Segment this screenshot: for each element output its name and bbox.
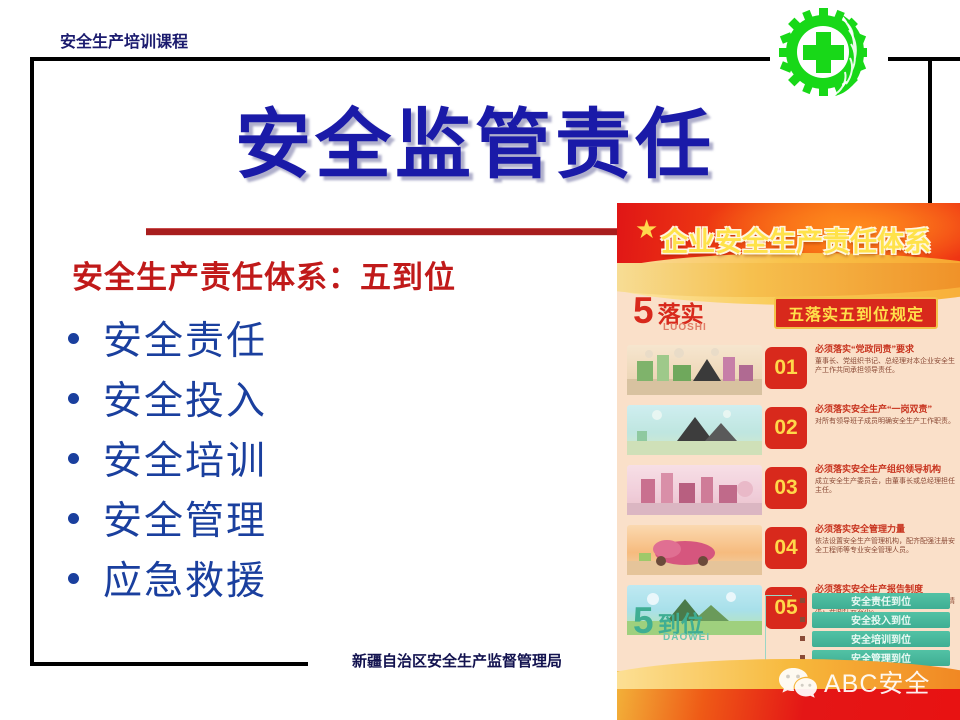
item-description: 董事长、党组织书记、总经理对本企业安全生产工作共同承担领导责任。 — [815, 357, 955, 375]
daowei-chip-label: 安全培训到位 — [851, 631, 911, 646]
footer-organization: 新疆自治区安全生产监督管理局 — [352, 650, 562, 671]
bullet-label: 应急救援 — [103, 550, 267, 606]
item-number-badge: 04 — [765, 527, 807, 569]
bullet-dot-icon — [68, 393, 79, 404]
list-item: 安全培训 — [68, 428, 548, 488]
item-texts: 必须落实安全生产组织领导机构 成立安全生产委员会，由董事长或总经理担任主任。 — [815, 463, 955, 495]
item-description: 成立安全生产委员会，由董事长或总经理担任主任。 — [815, 477, 955, 495]
list-item: 应急救援 — [68, 548, 548, 608]
list-item: 安全培训到位 — [800, 629, 950, 648]
daowei-chip: 安全投入到位 — [812, 612, 950, 628]
poster-item-row: 02 必须落实安全生产“一岗双责” 对所有领导班子成员明确安全生产工作职责。 — [627, 403, 953, 459]
tick-icon — [800, 636, 805, 641]
bullet-label: 安全责任 — [103, 310, 267, 366]
bullet-dot-icon — [68, 333, 79, 344]
item-texts: 必须落实安全管理力量 依法设置安全生产管理机构，配齐配强注册安全工程师等专业安全… — [815, 523, 955, 555]
item-heading: 必须落实安全生产“一岗双责” — [815, 403, 955, 415]
item-thumbnail — [627, 525, 762, 575]
poster-item-row: 01 必须落实“党政同责”要求 董事长、党组织书记、总经理对本企业安全生产工作共… — [627, 343, 953, 399]
rule-badge: 五落实五到位规定 — [774, 297, 938, 329]
safety-production-logo-icon — [777, 6, 885, 98]
item-thumbnail — [627, 465, 762, 515]
item-heading: 必须落实安全生产组织领导机构 — [815, 463, 955, 475]
watermark: ABC安全 — [778, 664, 930, 700]
daowei-pinyin: DAOWEI — [663, 632, 710, 643]
bullet-label: 安全投入 — [103, 370, 267, 426]
wechat-icon — [778, 666, 818, 698]
star-icon: ★ — [635, 216, 661, 242]
bullet-dot-icon — [68, 453, 79, 464]
tick-icon — [800, 617, 805, 622]
bullet-dot-icon — [68, 513, 79, 524]
course-header-label: 安全生产培训课程 — [60, 28, 188, 52]
bullet-label: 安全培训 — [103, 430, 267, 486]
list-item: 安全管理 — [68, 488, 548, 548]
item-thumbnail — [627, 405, 762, 455]
bullet-label: 安全管理 — [103, 490, 267, 546]
item-number: 04 — [774, 536, 797, 560]
daowei-chip: 安全责任到位 — [812, 593, 950, 609]
frame-left-line — [30, 57, 34, 666]
luoshi-pinyin: LUOSHI — [663, 322, 707, 333]
item-description: 对所有领导班子成员明确安全生产工作职责。 — [815, 417, 955, 426]
tick-icon — [800, 598, 805, 603]
poster-item-row: 03 必须落实安全生产组织领导机构 成立安全生产委员会，由董事长或总经理担任主任… — [627, 463, 953, 519]
daowei-number: 5 — [633, 605, 654, 637]
poster-title: 企业安全生产责任体系 — [661, 227, 951, 257]
item-heading: 必须落实“党政同责”要求 — [815, 343, 955, 355]
item-heading: 必须落实安全管理力量 — [815, 523, 955, 535]
list-item: 安全责任到位 — [800, 591, 950, 610]
section-subtitle: 安全生产责任体系：五到位 — [72, 252, 456, 297]
list-item: 安全投入 — [68, 368, 548, 428]
daowei-chip: 安全培训到位 — [812, 631, 950, 647]
frame-top-left-line — [30, 57, 770, 61]
page-title: 安全监管责任 — [235, 104, 715, 188]
bullet-dot-icon — [68, 573, 79, 584]
item-number-badge: 01 — [765, 347, 807, 389]
poster-item-row: 04 必须落实安全管理力量 依法设置安全生产管理机构，配齐配强注册安全工程师等专… — [627, 523, 953, 579]
daowei-chip-label: 安全责任到位 — [851, 593, 911, 608]
item-number-badge: 02 — [765, 407, 807, 449]
item-number: 02 — [774, 416, 797, 440]
frame-top-right-line — [888, 57, 960, 61]
item-texts: 必须落实安全生产“一岗双责” 对所有领导班子成员明确安全生产工作职责。 — [815, 403, 955, 426]
item-number-badge: 03 — [765, 467, 807, 509]
rule-badge-text: 五落实五到位规定 — [788, 301, 924, 325]
watermark-label: ABC安全 — [824, 664, 930, 700]
item-texts: 必须落实“党政同责”要求 董事长、党组织书记、总经理对本企业安全生产工作共同承担… — [815, 343, 955, 375]
poster-image: ★ 企业安全生产责任体系 5 落实 LUOSHI 五落实五到位规定 — [617, 203, 960, 720]
frame-bottom-line — [30, 662, 308, 666]
list-item: 安全责任 — [68, 308, 548, 368]
item-number: 03 — [774, 476, 797, 500]
slide-canvas: 安全生产培训课程 — [0, 0, 960, 720]
list-item: 安全投入到位 — [800, 610, 950, 629]
item-description: 依法设置安全生产管理机构，配齐配强注册安全工程师等专业安全管理人员。 — [815, 537, 955, 555]
luoshi-number: 5 — [633, 295, 654, 327]
daowei-chip-label: 安全投入到位 — [851, 612, 911, 627]
item-number: 01 — [774, 356, 797, 380]
frame-right-line — [928, 57, 932, 209]
bullet-list: 安全责任 安全投入 安全培训 安全管理 应急救援 — [68, 308, 548, 608]
item-thumbnail — [627, 345, 762, 395]
